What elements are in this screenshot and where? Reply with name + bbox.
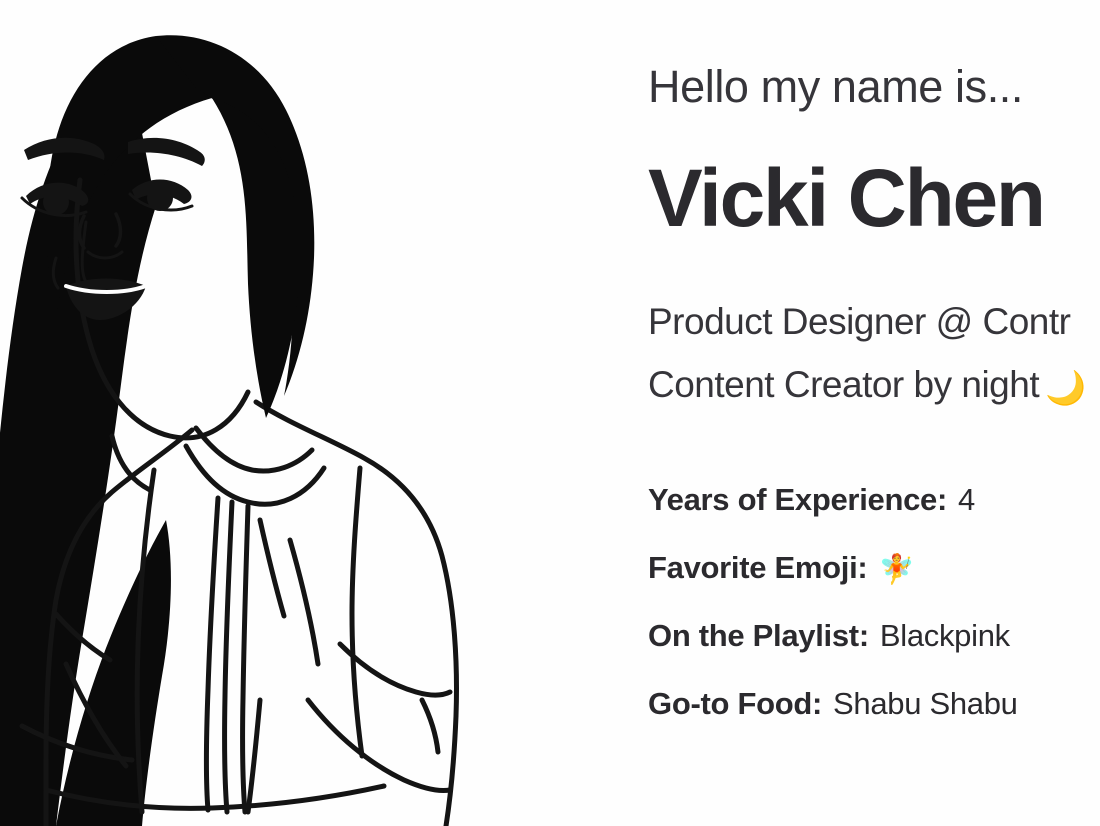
fact-label: Years of Experience: [648,482,947,517]
fact-label: Favorite Emoji: [648,550,867,585]
page-title: Vicki Chen [648,156,1044,242]
info-pane: Hello my name is... Vicki Chen Product D… [648,0,1100,826]
facts-list: Years of Experience:4 Favorite Emoji:🧚 O… [648,466,1100,738]
fact-label: On the Playlist: [648,618,869,653]
role-line-night-label: Content Creator by night [648,364,1039,405]
fairy-icon: 🧚 [878,554,914,586]
crescent-moon-icon: 🌙 [1045,369,1086,406]
role-block: Product Designer @ Contr Content Creator… [648,290,1100,419]
fact-row-favorite-emoji: Favorite Emoji:🧚 [648,534,1100,602]
portrait-pane [0,0,620,826]
role-line-day: Product Designer @ Contr [648,290,1100,353]
role-line-night: Content Creator by night🌙 [648,353,1100,419]
fact-row-years-of-experience: Years of Experience:4 [648,466,1100,534]
fact-row-on-the-playlist: On the Playlist:Blackpink [648,602,1100,670]
fact-value: 4 [958,482,975,517]
fact-label: Go-to Food: [648,686,822,721]
portrait-illustration [0,0,580,826]
fact-value: Shabu Shabu [833,686,1018,721]
greeting-text: Hello my name is... [648,62,1023,112]
intro-slide: Hello my name is... Vicki Chen Product D… [0,0,1100,826]
fact-row-go-to-food: Go-to Food:Shabu Shabu [648,670,1100,738]
fact-value: Blackpink [880,618,1010,653]
